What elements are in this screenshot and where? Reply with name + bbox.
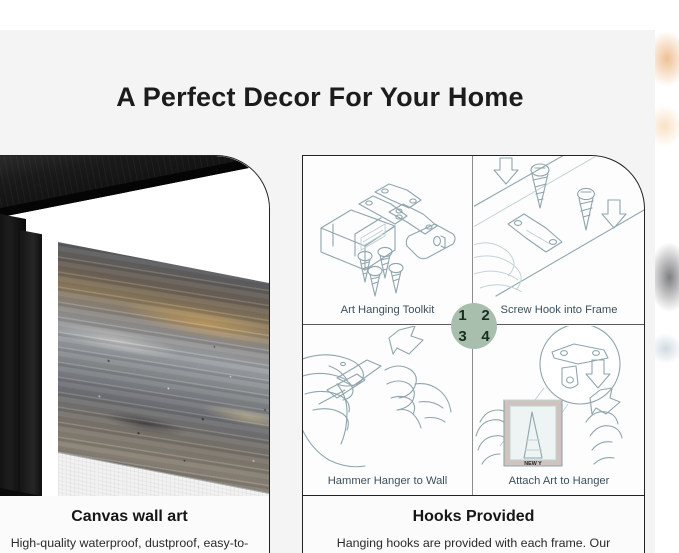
hanging-instructions-media: Art Hanging Toolkit [303, 156, 644, 496]
canvas-title: Canvas wall art [4, 508, 255, 526]
screw-hook-illustration [474, 156, 644, 298]
step-panel-1: Art Hanging Toolkit [303, 156, 473, 325]
badge-number-3: 3 [451, 325, 474, 348]
canvas-artwork-media [0, 156, 269, 496]
step-panel-4: NEW Y Attach Art to Hanger [474, 326, 644, 495]
step-4-label: Attach Art to Hanger [474, 475, 644, 487]
badge-number-1: 1 [451, 304, 474, 327]
step-2-label: Screw Hook into Frame [474, 304, 644, 316]
product-detail-image: A Perfect Decor For Your Home Canvas wal… [0, 0, 679, 553]
adjacent-artwork-strip [655, 0, 679, 420]
frame-inner-lip [20, 230, 42, 496]
feature-block-hooks: Art Hanging Toolkit [302, 155, 645, 553]
page-title: A Perfect Decor For Your Home [0, 82, 640, 113]
frame-top-bevel [0, 156, 269, 225]
hooks-title: Hooks Provided [317, 508, 630, 526]
instruction-step-grid: Art Hanging Toolkit [303, 156, 644, 495]
feature-block-canvas: Canvas wall art High-quality waterproof,… [0, 155, 270, 553]
step-panel-3: Hammer Hanger to Wall [303, 326, 473, 495]
content-card: A Perfect Decor For Your Home Canvas wal… [0, 30, 655, 553]
step-panel-2: Screw Hook into Frame [474, 156, 644, 325]
step-number-badge: 1 2 3 4 [451, 303, 497, 349]
toolkit-line-art [303, 156, 473, 299]
step-1-label: Art Hanging Toolkit [303, 304, 472, 316]
step-3-label: Hammer Hanger to Wall [303, 475, 472, 487]
canvas-description: High-quality waterproof, dustproof, easy… [4, 533, 255, 553]
framed-canvas-illustration [0, 156, 269, 496]
hooks-caption: Hooks Provided Hanging hooks are provide… [303, 496, 644, 553]
art-thumbnail-caption: NEW Y [524, 461, 542, 467]
hammer-hanger-illustration [303, 326, 472, 469]
badge-number-4: 4 [474, 325, 497, 348]
badge-number-2: 2 [474, 304, 497, 327]
canvas-caption: Canvas wall art High-quality waterproof,… [0, 496, 269, 553]
attach-art-line-art: NEW Y [474, 326, 644, 469]
hooks-description: Hanging hooks are provided with each fra… [317, 533, 630, 553]
toolkit-illustration [303, 156, 472, 298]
hammer-to-wall-line-art [303, 326, 473, 469]
screw-into-frame-line-art [474, 156, 644, 299]
attach-art-illustration: NEW Y [474, 326, 644, 469]
wood-grain-texture [0, 156, 269, 216]
